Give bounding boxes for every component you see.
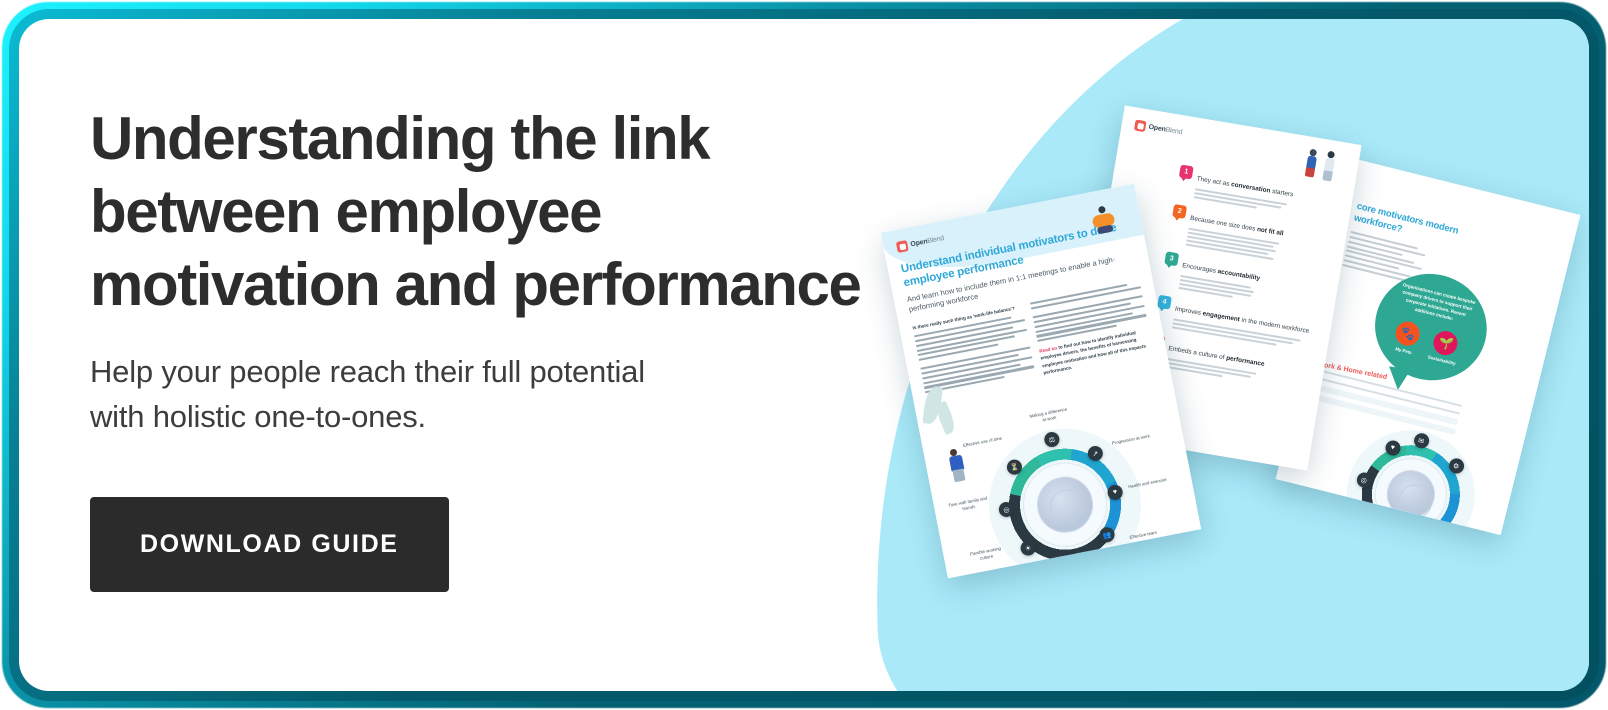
wheel-node-icon: ★ [1418,530,1436,535]
body-column-right: Read on to find out how to identify indi… [1030,282,1154,377]
my-pets-icon-item: 🐾 My Pets [1391,319,1422,356]
download-guide-button[interactable]: DOWNLOAD GUIDE [90,497,449,592]
wheel-node-icon: ☺ [1062,551,1080,569]
wheel-label: Progression at work [1110,433,1152,447]
wheel-node-icon: ☺ [1363,512,1381,530]
motivator-wheel: ⚖ ↗ ♥ 👥 ☺ ☀ ◎ ⏳ Making a difference at w… [976,416,1154,579]
badge-2: 2 [1172,204,1187,219]
sustainability-icon-item: 🌱 Sustainability [1427,328,1462,366]
benefits-list: 1 They act as conversation starters [1147,165,1341,394]
motivator-wheel-secondary: ✉ ⚙ ♥ ◎ ☺ ★ [1333,417,1488,536]
my-pets-label: My Pets [1391,345,1415,356]
walking-person-illustration [944,446,976,484]
wheel-label: Time with family and friends [947,495,990,515]
people-illustration [1299,146,1348,187]
banner-card: Understanding the link between employee … [19,19,1589,691]
page-title: Understanding the link between employee … [90,102,870,322]
openblend-mark-icon [1134,119,1147,132]
badge-4: 4 [1157,295,1172,310]
wheel-label: Flexible working culture [964,545,1007,565]
openblend-mark-icon [896,240,909,253]
sustainability-label: Sustainability [1427,354,1456,366]
guide-preview-stack: core motivators modern workforce? Organi… [874,19,1589,691]
wheel-label: Mindset wellbeing [1055,570,1097,578]
body-column-left: Is there really such thing as 'work-life… [912,304,1036,399]
promo-banner: Understanding the link between employee … [0,0,1608,710]
bubble-icon-row: 🐾 My Pets 🌱 Sustainability [1391,319,1462,366]
paw-icon: 🐾 [1393,319,1422,348]
wheel-label: Making a difference at work [1027,406,1070,426]
badge-3: 3 [1164,251,1179,266]
leaf-decoration [934,401,958,436]
openblend-wordmark: OpenBlend [1148,124,1183,137]
badge-1: 1 [1179,165,1194,180]
hero-subhead: Help your people reach their full potent… [90,350,690,440]
plant-icon: 🌱 [1431,328,1460,357]
hero-copy: Understanding the link between employee … [90,102,880,592]
